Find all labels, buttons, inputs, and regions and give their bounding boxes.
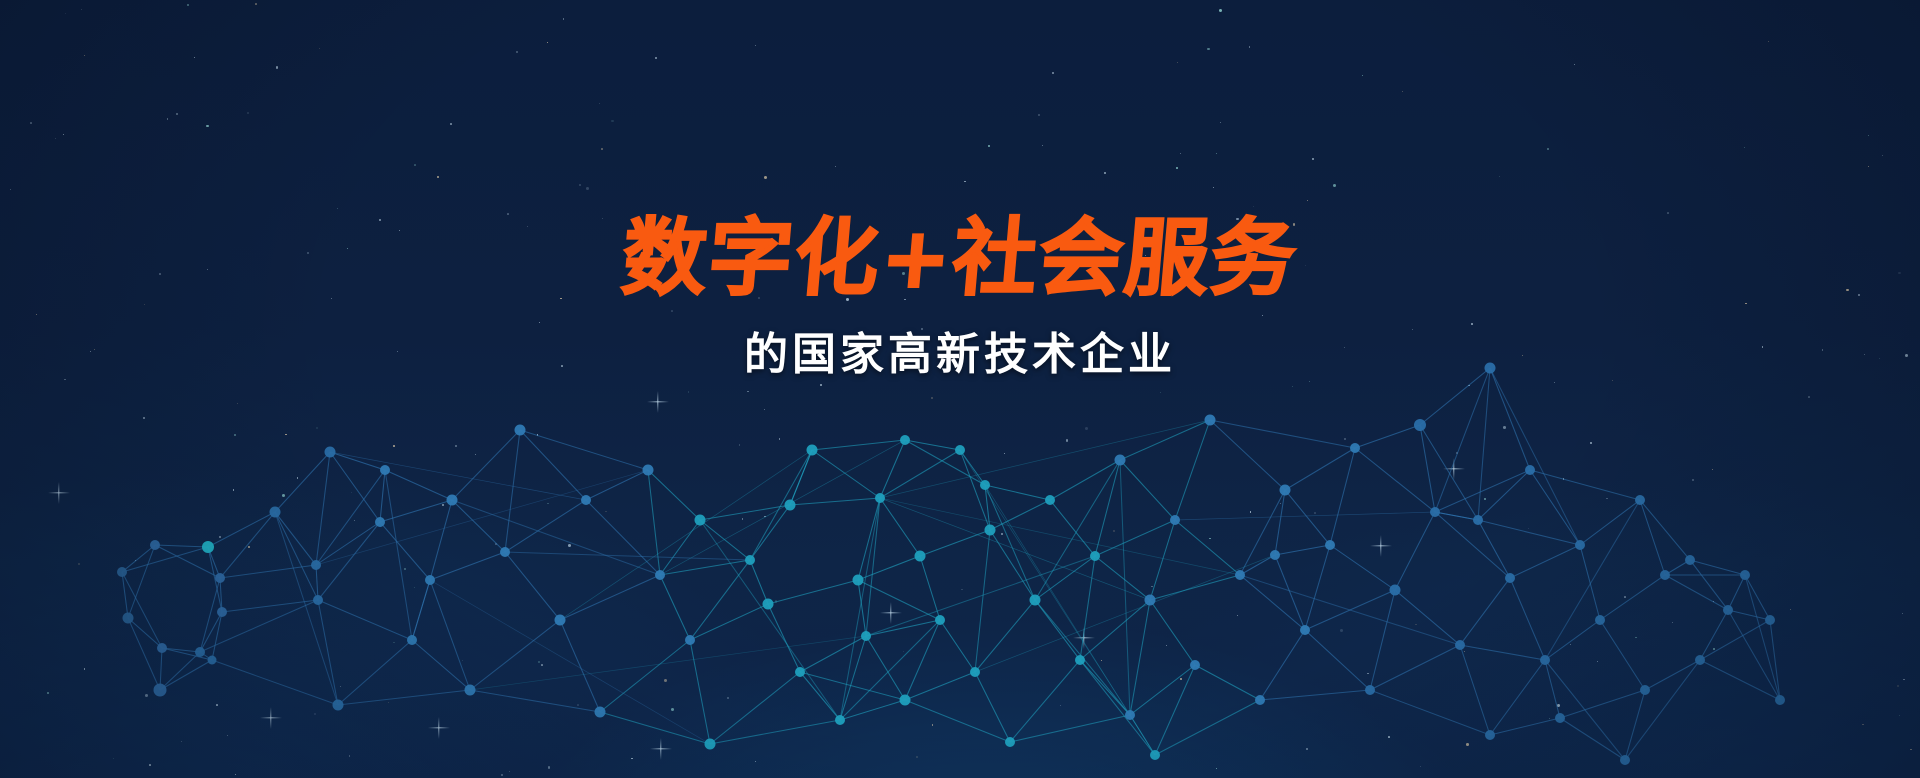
mesh-edge [880, 440, 905, 498]
mesh-node [447, 495, 458, 506]
mesh-node [1685, 555, 1695, 565]
mesh-edge [1175, 520, 1240, 575]
mesh-edge [1305, 545, 1330, 630]
mesh-node [1595, 615, 1605, 625]
mesh-edge [690, 640, 710, 744]
mesh-edge [1155, 700, 1260, 755]
mesh-edge [316, 522, 380, 565]
mesh-node [835, 715, 845, 725]
mesh-node [1350, 443, 1360, 453]
mesh-edge [1010, 715, 1130, 742]
mesh-edge [1728, 610, 1770, 620]
mesh-edge [1435, 512, 1510, 578]
hero-banner: 数字化+社会服务 的国家高新技术企业 [0, 0, 1920, 778]
mesh-node [375, 517, 385, 527]
mesh-edge [600, 640, 690, 712]
mesh-edge [1580, 545, 1600, 620]
mesh-node [1325, 540, 1335, 550]
mesh-edge [920, 556, 940, 620]
mesh-edge [338, 640, 412, 705]
mesh-node [1205, 415, 1216, 426]
mesh-edge [1478, 368, 1490, 520]
mesh-node [1660, 570, 1670, 580]
mesh-edge [1690, 560, 1728, 610]
mesh-node [154, 684, 167, 697]
mesh-edge [700, 520, 750, 560]
mesh-edge [1460, 578, 1510, 645]
mesh-edge [1435, 470, 1530, 512]
mesh-node [861, 631, 871, 641]
mesh-edge [940, 620, 975, 672]
mesh-node [1775, 695, 1785, 705]
mesh-edge [1285, 448, 1355, 490]
mesh-edge [990, 500, 1050, 530]
mesh-edge [858, 580, 866, 636]
mesh-node [785, 500, 796, 511]
mesh-node [311, 560, 321, 570]
mesh-node [1235, 570, 1245, 580]
mesh-node [1150, 750, 1160, 760]
mesh-edge [1510, 578, 1545, 660]
mesh-node [1090, 551, 1100, 561]
mesh-edge [380, 522, 430, 580]
mesh-node [970, 667, 980, 677]
page-subtitle: 的国家高新技术企业 [0, 318, 1920, 382]
mesh-node [1740, 570, 1750, 580]
mesh-edge [800, 672, 840, 720]
mesh-node [325, 447, 336, 458]
mesh-node [123, 613, 134, 624]
mesh-edge [560, 575, 660, 620]
mesh-edge [200, 612, 222, 652]
mesh-edge [430, 552, 505, 580]
mesh-node [655, 570, 665, 580]
mesh-edge [1330, 545, 1395, 590]
mesh-node [795, 667, 805, 677]
mesh-node [1540, 655, 1550, 665]
mesh-edge [275, 512, 316, 565]
mesh-edge [470, 690, 600, 712]
mesh-edge [880, 420, 1210, 498]
mesh-edge [586, 500, 660, 575]
mesh-edge [1580, 500, 1640, 545]
mesh-edge [1645, 660, 1700, 690]
mesh-edge [975, 672, 1010, 742]
mesh-edge [1770, 620, 1780, 700]
mesh-node [695, 515, 706, 526]
mesh-edge [162, 648, 200, 652]
page-title: 数字化+社会服务 [0, 216, 1920, 300]
mesh-edge [1095, 520, 1175, 556]
mesh-node [195, 647, 205, 657]
mesh-node [1255, 695, 1265, 705]
mesh-edge [880, 450, 960, 498]
mesh-edge [1050, 460, 1120, 500]
mesh-edge [452, 430, 520, 500]
mesh-node [1030, 595, 1041, 606]
mesh-node [1125, 710, 1135, 720]
mesh-edge [1080, 556, 1095, 660]
mesh-edge [1370, 590, 1395, 690]
mesh-edge [790, 450, 812, 505]
mesh-edge [560, 620, 600, 712]
mesh-edge [1370, 645, 1460, 690]
mesh-node [1505, 573, 1515, 583]
mesh-edge [1370, 690, 1490, 735]
mesh-edge [1665, 575, 1728, 610]
mesh-edge [1460, 645, 1545, 660]
mesh-edge [212, 660, 338, 705]
mesh-node [900, 695, 911, 706]
mesh-edge [1690, 560, 1745, 575]
mesh-node [643, 465, 654, 476]
mesh-edge [1240, 575, 1460, 645]
mesh-edge [1355, 425, 1420, 448]
mesh-edge [275, 452, 330, 512]
mesh-node [1635, 495, 1645, 505]
mesh-node [157, 643, 167, 653]
mesh-edge [160, 660, 212, 690]
mesh-node [1190, 660, 1200, 670]
mesh-edge [750, 505, 790, 560]
mesh-node [1280, 485, 1291, 496]
mesh-edge [160, 652, 200, 690]
mesh-edge [1175, 512, 1435, 520]
mesh-edge [208, 512, 275, 547]
mesh-edge [880, 498, 920, 556]
mesh-node [555, 615, 566, 626]
mesh-node [117, 567, 127, 577]
mesh-edge [505, 552, 750, 560]
mesh-node [1075, 655, 1085, 665]
mesh-edge [985, 485, 1035, 600]
mesh-edge [1640, 500, 1690, 560]
mesh-edge [858, 498, 880, 580]
mesh-edge [275, 512, 318, 600]
mesh-node [1473, 515, 1483, 525]
mesh-node [1765, 615, 1775, 625]
mesh-edge [1010, 660, 1080, 742]
mesh-edge [155, 545, 208, 547]
mesh-edge [275, 512, 338, 705]
mesh-edge [1080, 660, 1155, 755]
mesh-edge [812, 440, 905, 450]
mesh-edge [1478, 470, 1530, 520]
mesh-edge [1395, 512, 1435, 590]
mesh-node [763, 599, 774, 610]
mesh-edge [128, 618, 160, 690]
mesh-edge [750, 450, 812, 560]
mesh-edge [690, 604, 768, 640]
mesh-node [875, 493, 885, 503]
mesh-edge [560, 450, 812, 620]
mesh-edge [122, 547, 208, 572]
mesh-edge [812, 450, 880, 498]
mesh-edge [660, 440, 905, 575]
mesh-edge [750, 560, 768, 604]
mesh-edge [385, 470, 452, 500]
mesh-edge [660, 520, 700, 575]
mesh-node [1555, 713, 1565, 723]
mesh-edge [452, 500, 505, 552]
mesh-edge [1195, 665, 1260, 700]
mesh-node [900, 435, 910, 445]
mesh-node [1695, 655, 1705, 665]
mesh-edge [1120, 460, 1130, 715]
mesh-edge [1625, 660, 1700, 760]
mesh-node [980, 480, 990, 490]
mesh-edge [700, 520, 840, 720]
mesh-edge [1490, 368, 1530, 470]
mesh-edge [1035, 460, 1120, 600]
mesh-edge [600, 712, 710, 744]
mesh-edge [1460, 645, 1490, 735]
mesh-node [985, 525, 996, 536]
mesh-edge [1510, 545, 1580, 578]
mesh-edge [1080, 600, 1150, 660]
mesh-edge [1545, 500, 1640, 660]
mesh-edge [1478, 520, 1510, 578]
mesh-edge [1150, 575, 1240, 600]
mesh-edge [880, 498, 1240, 575]
mesh-node [1390, 585, 1401, 596]
mesh-edge [122, 572, 128, 618]
mesh-edge [648, 470, 700, 520]
mesh-edge [380, 470, 385, 522]
mesh-node [1485, 730, 1495, 740]
mesh-node [333, 700, 344, 711]
mesh-node [1005, 737, 1015, 747]
mesh-node [1145, 595, 1156, 606]
mesh-edge [690, 560, 750, 640]
mesh-edge [866, 620, 940, 636]
mesh-node [1045, 495, 1055, 505]
mesh-node [380, 465, 390, 475]
mesh-node [1115, 455, 1126, 466]
mesh-edge [1640, 500, 1665, 575]
mesh-edge [1490, 368, 1580, 545]
mesh-edge [710, 720, 840, 744]
mesh-edge [1745, 575, 1780, 700]
mesh-edge [220, 512, 275, 578]
mesh-node [935, 615, 945, 625]
mesh-node [807, 445, 818, 456]
mesh-edge [920, 530, 990, 556]
mesh-node [1723, 605, 1733, 615]
mesh-edge [866, 636, 905, 700]
mesh-node [1640, 685, 1650, 695]
mesh-edge [1240, 575, 1305, 630]
mesh-node [208, 656, 217, 665]
mesh-edge [318, 600, 412, 640]
mesh-edge [1285, 490, 1330, 545]
mesh-edge [200, 578, 220, 652]
mesh-edge [1600, 575, 1665, 620]
mesh-edge [1560, 718, 1625, 760]
mesh-node [515, 425, 526, 436]
mesh-node [425, 575, 435, 585]
mesh-edge [1210, 420, 1355, 448]
mesh-node [270, 507, 281, 518]
mesh-edge [975, 530, 990, 672]
mesh-node [685, 635, 695, 645]
mesh-edge [505, 430, 520, 552]
mesh-node [1575, 540, 1585, 550]
mesh-node [465, 685, 476, 696]
hero-text-block: 数字化+社会服务 的国家高新技术企业 [0, 216, 1920, 382]
mesh-edge [1130, 600, 1150, 715]
mesh-node [407, 635, 417, 645]
mesh-node [955, 445, 965, 455]
mesh-edge [1150, 600, 1195, 665]
mesh-edge [316, 565, 318, 600]
mesh-node [915, 551, 926, 562]
mesh-node [1414, 419, 1426, 431]
mesh-edge [905, 700, 1010, 742]
mesh-edge [430, 580, 710, 744]
mesh-edge [212, 612, 222, 660]
mesh-node [1525, 465, 1535, 475]
mesh-node [217, 607, 227, 617]
mesh-edge [430, 580, 470, 690]
mesh-edge [1395, 590, 1460, 645]
mesh-edge [1545, 660, 1625, 760]
mesh-edge [790, 498, 880, 505]
mesh-edge [1260, 630, 1305, 700]
mesh-node [1455, 640, 1465, 650]
mesh-node [705, 739, 716, 750]
mesh-edge [1050, 500, 1095, 556]
mesh-edge [316, 470, 648, 565]
mesh-edge [128, 618, 162, 648]
mesh-edge [122, 572, 162, 648]
mesh-node [215, 573, 225, 583]
mesh-edge [1080, 660, 1130, 715]
mesh-edge [768, 580, 858, 604]
mesh-node [853, 575, 864, 586]
mesh-edge [1095, 556, 1150, 600]
mesh-edge [1305, 630, 1370, 690]
mesh-edge [505, 552, 560, 620]
mesh-edge [1035, 556, 1095, 600]
mesh-edge [452, 500, 660, 575]
mesh-edge [1435, 368, 1490, 512]
mesh-edge [1625, 690, 1645, 760]
mesh-edge [1175, 420, 1210, 520]
mesh-edge [1035, 600, 1080, 660]
mesh-edge [412, 580, 430, 640]
mesh-node [500, 547, 510, 557]
mesh-node [1620, 755, 1630, 765]
mesh-edge [1130, 665, 1195, 715]
mesh-edge [1545, 620, 1600, 660]
mesh-node [202, 541, 214, 553]
mesh-edge [430, 500, 452, 580]
mesh-node [581, 495, 591, 505]
mesh-node [1430, 507, 1440, 517]
mesh-edge [975, 600, 1035, 672]
mesh-edge [768, 604, 800, 672]
mesh-node [1170, 515, 1180, 525]
mesh-edge [1330, 448, 1355, 545]
mesh-edge [1275, 545, 1330, 555]
mesh-edge [318, 522, 380, 600]
mesh-edge [1260, 690, 1370, 700]
mesh-edge [338, 690, 470, 705]
mesh-edge [1600, 620, 1645, 690]
mesh-node [745, 555, 755, 565]
mesh-node [1300, 625, 1310, 635]
mesh-edge [990, 530, 1035, 600]
mesh-node [595, 707, 606, 718]
mesh-edge [710, 672, 800, 744]
mesh-edge [1745, 575, 1770, 620]
mesh-edge [1275, 555, 1305, 630]
mesh-node [150, 540, 160, 550]
mesh-edge [985, 485, 1050, 500]
mesh-edge [660, 575, 690, 640]
mesh-node [1270, 550, 1280, 560]
mesh-edge [1095, 460, 1120, 556]
mesh-node [313, 595, 323, 605]
mesh-edge [1435, 512, 1478, 520]
mesh-edge [1210, 420, 1285, 490]
mesh-node [1365, 685, 1375, 695]
mesh-edge [1478, 520, 1580, 545]
mesh-edge [1355, 448, 1435, 512]
mesh-edge [1120, 460, 1175, 520]
mesh-edge [1728, 575, 1745, 610]
mesh-edge [1120, 420, 1210, 460]
mesh-edge [1155, 665, 1195, 755]
